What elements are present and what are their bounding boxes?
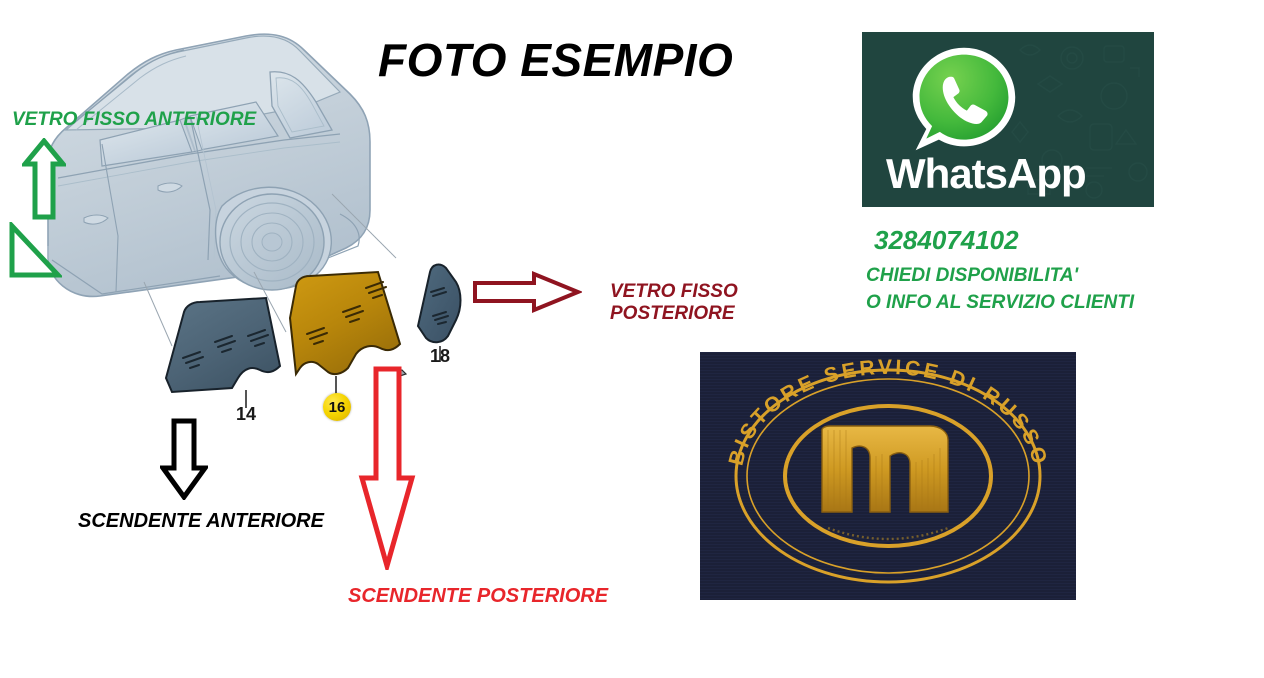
exploded-glass-parts: [150, 250, 480, 440]
availability-line-1: CHIEDI DISPONIBILITA': [866, 265, 1078, 287]
part-14-shape: [166, 298, 280, 392]
down-arrow-red-icon: [358, 366, 416, 575]
shop-logo: MRICAMBISTORE SERVICE DI RUSSO MARCO: [700, 352, 1076, 600]
label-vetro-fisso-posteriore: VETRO FISSO POSTERIORE: [610, 281, 738, 326]
up-arrow-green-icon: [22, 138, 66, 225]
phone-number[interactable]: 3284074102: [874, 225, 1019, 256]
part-16-shape: [290, 272, 400, 374]
label-vetro-fisso-anteriore: VETRO FISSO ANTERIORE: [12, 109, 256, 131]
part-number-18: 18: [430, 346, 450, 367]
label-scendente-anteriore: SCENDENTE ANTERIORE: [78, 510, 324, 534]
right-arrow-dark-red-icon: [472, 270, 582, 319]
logo-monogram: [822, 426, 948, 512]
label-scendente-posteriore: SCENDENTE POSTERIORE: [348, 585, 608, 609]
availability-line-2: O INFO AL SERVIZIO CLIENTI: [866, 292, 1134, 314]
part-number-14: 14: [236, 404, 256, 425]
whatsapp-banner: WhatsApp: [862, 32, 1154, 207]
down-arrow-black-icon: [160, 418, 208, 505]
whatsapp-logo-icon: [906, 42, 1022, 158]
triangle-green-icon: [6, 222, 62, 285]
page-title: FOTO ESEMPIO: [378, 33, 733, 87]
part-18-shape: [418, 265, 461, 343]
whatsapp-wordmark: WhatsApp: [886, 150, 1086, 198]
poster-canvas: FOTO ESEMPIO: [0, 0, 1264, 678]
part-number-16-badge: 16: [323, 393, 351, 421]
